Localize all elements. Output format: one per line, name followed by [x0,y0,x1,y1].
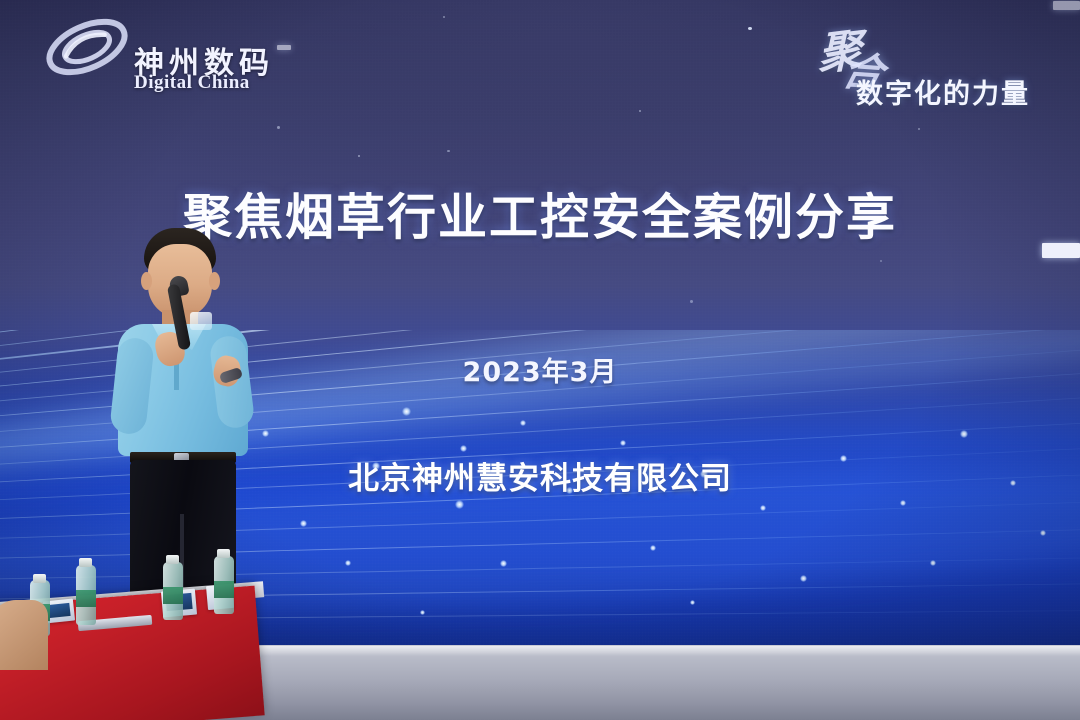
event-tagline: 数字化的力量 [856,72,1030,111]
water-bottle-cap [217,549,230,558]
digital-china-name-en: Digital China [134,72,250,94]
seated-attendee [0,600,48,670]
right-edge-light-bar-top [1053,1,1080,10]
speaker-ear-right [209,272,220,290]
water-bottle-label [163,587,183,604]
water-bottle-cap [33,574,46,583]
water-bottle-cap [79,558,92,567]
presentation-photo: 神州数码 Digital China 聚 合 数字化的力量 聚焦烟草行业工控安全… [0,0,1080,720]
speaker-shirt-logo [190,312,212,330]
name-card-insert [47,603,70,618]
water-bottle-label [214,581,234,598]
water-bottle-label [76,590,96,607]
speaker-ear-left [141,272,152,290]
swirl-e-icon [44,16,130,78]
screen-highlight-bar [277,45,291,50]
water-bottle-cap [166,555,179,564]
speaker-figure [96,228,276,628]
event-logo: 聚 合 数字化的力量 [800,14,1062,110]
digital-china-logo: 神州数码 Digital China [44,16,314,94]
